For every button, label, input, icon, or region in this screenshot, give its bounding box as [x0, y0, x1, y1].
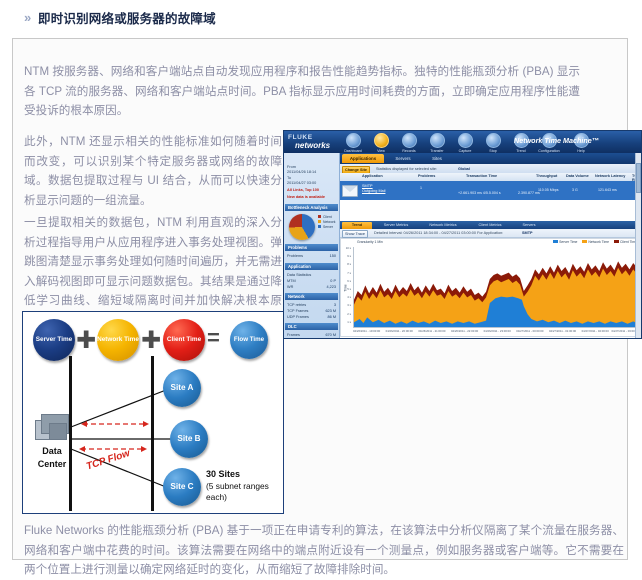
paragraph-metrics: 此外，NTM 还显示相关的性能标准如何随着时间而改变，可以识别某个特定服务器或网… [24, 132, 282, 210]
fluke-networks-logo: FLUKE networks [287, 133, 335, 151]
sidebar-section-dlc[interactable]: DLC [285, 323, 338, 330]
col-network-latency[interactable]: Network Latency [595, 174, 625, 178]
sidebar-dlc-label-0: Frames [287, 333, 300, 337]
stats-site-value: Global [458, 167, 470, 171]
chart-tab-client-metrics[interactable]: Client Metrics [468, 222, 512, 229]
xtick-1: 04/26/2011 - 20:00:00 [386, 329, 413, 333]
sidebar-app-label-0: Data Statistics [287, 273, 311, 277]
xtick-6: 04/27/2011 - 01:00:00 [549, 329, 576, 333]
chart-tab-network-metrics[interactable]: Network Metrics [420, 222, 466, 229]
trend-chart: Granularity 1 Min Server Time Network Ti… [340, 238, 641, 337]
ntm-application-screenshot: FLUKE networks Dashboard View Records Tr… [283, 130, 642, 339]
sidebar-net-label-2: UDP Frames [287, 315, 309, 319]
sidebar-problems-label: Problems [287, 254, 303, 258]
pie-legend-network-label: Network [323, 220, 335, 224]
sidebar-problems-row: Problems150 [287, 254, 337, 259]
row-data-volume: 3 G [572, 188, 578, 192]
sidebar-app-value-2: 4,223 [326, 285, 336, 290]
chart-subtoolbar: Show Trace Detailed Interval: 04/26/2011… [340, 229, 641, 238]
site-a-node: Site A [163, 369, 201, 407]
sidebar-link-new-data[interactable]: New data is available [287, 195, 337, 200]
chart-tab-server-metrics[interactable]: Server Metrics [374, 222, 418, 229]
sidebar-net-label-0: TCP retries [287, 303, 306, 307]
sidebar-from-value: 2011/04/26 18:14 [287, 170, 337, 175]
brand-top-label: FLUKE [288, 134, 313, 141]
detail-interval-text: Detailed Interval: 04/26/2011 18:34:00 -… [374, 231, 503, 235]
sidebar-dlc-value-0: 670 M [325, 333, 336, 338]
ytick-8: 2 s [347, 312, 351, 316]
col-transaction-time[interactable]: Transaction Time [466, 174, 497, 178]
sidebar-app-row-1: MTM0 P [287, 279, 337, 284]
xtick-3: 04/26/2011 - 22:00:00 [451, 329, 478, 333]
sidebar-app-label-2: WR [287, 285, 293, 289]
sites-note: 30 Sites (5 subnet ranges each) [206, 469, 278, 504]
sidebar-to-value: 2011/04/27 03:00 [287, 181, 337, 186]
row-transaction-time-1: +2.661.903 ms 4/5.5.004 s [458, 191, 501, 195]
vertical-scrollbar[interactable] [635, 153, 641, 338]
table-row[interactable]: SMTP Outgoing Mail 1 +2.661.903 ms 4/5.5… [340, 181, 641, 200]
sidebar-net-value-2: 86 M [328, 315, 336, 320]
tab-applications[interactable]: Applications [342, 154, 384, 163]
toolbar-capture-icon[interactable]: Capture [451, 133, 479, 153]
toolbar-dashboard-icon[interactable]: Dashboard [339, 133, 367, 153]
sidebar-net-value-1: 623 M [325, 309, 336, 314]
chart-granularity-label: Granularity 1 Min [357, 240, 383, 244]
app-main-content: Change Site Statistics displayed for sel… [340, 164, 641, 338]
data-center-icon [33, 412, 73, 442]
sites-subnet-note: (5 subnet ranges each) [206, 481, 269, 503]
app-sidebar: From 2011/04/26 18:14 To 2011/04/27 03:0… [284, 153, 340, 338]
toolbar-records-icon[interactable]: Records [395, 133, 423, 153]
chart-series-svg [354, 247, 637, 327]
chart-plot-area [353, 247, 637, 328]
col-application[interactable]: Application [362, 174, 383, 178]
sidebar-net-label-1: TCP Frames [287, 309, 308, 313]
tab-servers[interactable]: Servers [386, 154, 420, 163]
ytick-3: 7 s [347, 271, 351, 275]
sites-count: 30 Sites [206, 469, 240, 479]
chart-x-ticks: 04/26/2011 - 19:00:00 04/26/2011 - 20:00… [353, 329, 637, 336]
sidebar-dlc-row-0: Frames670 M [287, 333, 337, 338]
row-network-latency: 121.643 ms [598, 188, 617, 192]
xtick-2: 04/26/2011 - 21:00:00 [418, 329, 445, 333]
app-title: Network Time Machine™ [514, 136, 599, 145]
row-transaction-time-2: 2.390.877 ms [518, 191, 540, 195]
paragraph-pba-footnote: Fluke Networks 的性能瓶颈分析 (PBA) 基于一项正在申请专利的… [24, 521, 624, 580]
sidebar-link-all-links[interactable]: All Links, Top 100 [287, 188, 337, 193]
toolbar-stop-icon[interactable]: Stop [479, 133, 507, 153]
sidebar-app-row-2: WR4,223 [287, 285, 337, 290]
sidebar-net-value-0: 3 [334, 303, 336, 308]
row-problems: 1 [420, 186, 422, 190]
ytick-0: 10 s [346, 246, 351, 250]
pie-legend-server-label: Server [323, 225, 333, 229]
xtick-5: 04/27/2011 - 00:00:00 [516, 329, 543, 333]
row-app-sub[interactable]: Outgoing Mail [362, 189, 385, 193]
scrollbar-thumb[interactable] [636, 163, 641, 193]
xtick-0: 04/26/2011 - 19:00:00 [353, 329, 380, 333]
xtick-4: 04/26/2011 - 23:00:00 [484, 329, 511, 333]
chart-tab-servers[interactable]: Servers [514, 222, 544, 229]
legend-server-time: Server Time [559, 240, 577, 244]
chart-tabbar: Trend Server Metrics Network Metrics Cli… [340, 221, 641, 229]
ytick-7: 3 s [347, 303, 351, 307]
sidebar-net-row-1: TCP Frames623 M [287, 309, 337, 314]
chart-tab-trend[interactable]: Trend [342, 222, 372, 229]
chart-legend: Server Time Network Time Client Time [549, 240, 637, 244]
sidebar-section-network[interactable]: Network [285, 293, 338, 300]
sidebar-app-label-1: MTM [287, 279, 296, 283]
sidebar-app-value-1: 0 P [330, 279, 336, 284]
sidebar-problems-value: 150 [330, 254, 336, 259]
paragraph-intro: NTM 按服务器、网络和客户端站点自动发现应用程序和报告性能趋势指标。独特的性能… [24, 62, 580, 121]
detail-app-name: SMTP [522, 231, 533, 235]
row-throughput: 110.05 Mbps [538, 188, 559, 192]
sidebar-section-application[interactable]: Application [285, 263, 338, 270]
brand-bottom-label: networks [295, 141, 330, 150]
sidebar-section-problems[interactable]: Problems [285, 244, 338, 251]
col-data-volume[interactable]: Data Volume [566, 174, 589, 178]
page-title: 即时识别网络或服务器的故障域 [38, 8, 216, 27]
sidebar-net-row-0: TCP retries3 [287, 303, 337, 308]
sidebar-net-row-2: UDP Frames86 M [287, 315, 337, 320]
bottleneck-pie-chart [289, 214, 315, 240]
chart-y-ticks: 10 s 9 s 8 s 7 s 6 s 5 s 4 s 3 s 2 s 1 s [341, 246, 352, 328]
ytick-4: 6 s [347, 279, 351, 283]
mail-envelope-icon [342, 185, 358, 197]
row-app-name[interactable]: SMTP [362, 184, 373, 188]
pba-formula-diagram: Server Time ✚ Network Time ✚ Client Time… [22, 311, 284, 514]
pie-legend-client-label: Client [323, 215, 332, 219]
ytick-1: 9 s [347, 254, 351, 258]
col-problems[interactable]: Problems [418, 174, 435, 178]
tab-sites[interactable]: Sites [422, 154, 452, 163]
toolbar-view-icon[interactable]: View [367, 133, 395, 153]
show-trace-button[interactable]: Show Trace [342, 230, 368, 238]
ytick-5: 5 s [347, 287, 351, 291]
sidebar-section-bottleneck-analysis[interactable]: Bottleneck Analysis [285, 204, 338, 211]
site-b-node: Site B [170, 420, 208, 458]
sidebar-app-row-0: Data Statistics [287, 273, 337, 278]
stats-text: Statistics displayed for selected site: [376, 167, 437, 171]
col-throughput[interactable]: Throughput [536, 174, 557, 178]
chevron-right-icon: » [24, 11, 31, 24]
toolbar-transfer-icon[interactable]: Transfer [423, 133, 451, 153]
page-header: » 即时识别网络或服务器的故障域 [0, 0, 642, 38]
legend-network-time: Network Time [588, 240, 609, 244]
data-center-label: Data Center [27, 445, 77, 471]
ytick-2: 8 s [347, 262, 351, 266]
ytick-9: 1 s [347, 320, 351, 324]
site-c-node: Site C [163, 468, 201, 506]
pie-legend-server: Server [318, 225, 333, 230]
xtick-7: 04/27/2011 - 02:00:00 [582, 329, 609, 333]
ytick-6: 4 s [347, 295, 351, 299]
